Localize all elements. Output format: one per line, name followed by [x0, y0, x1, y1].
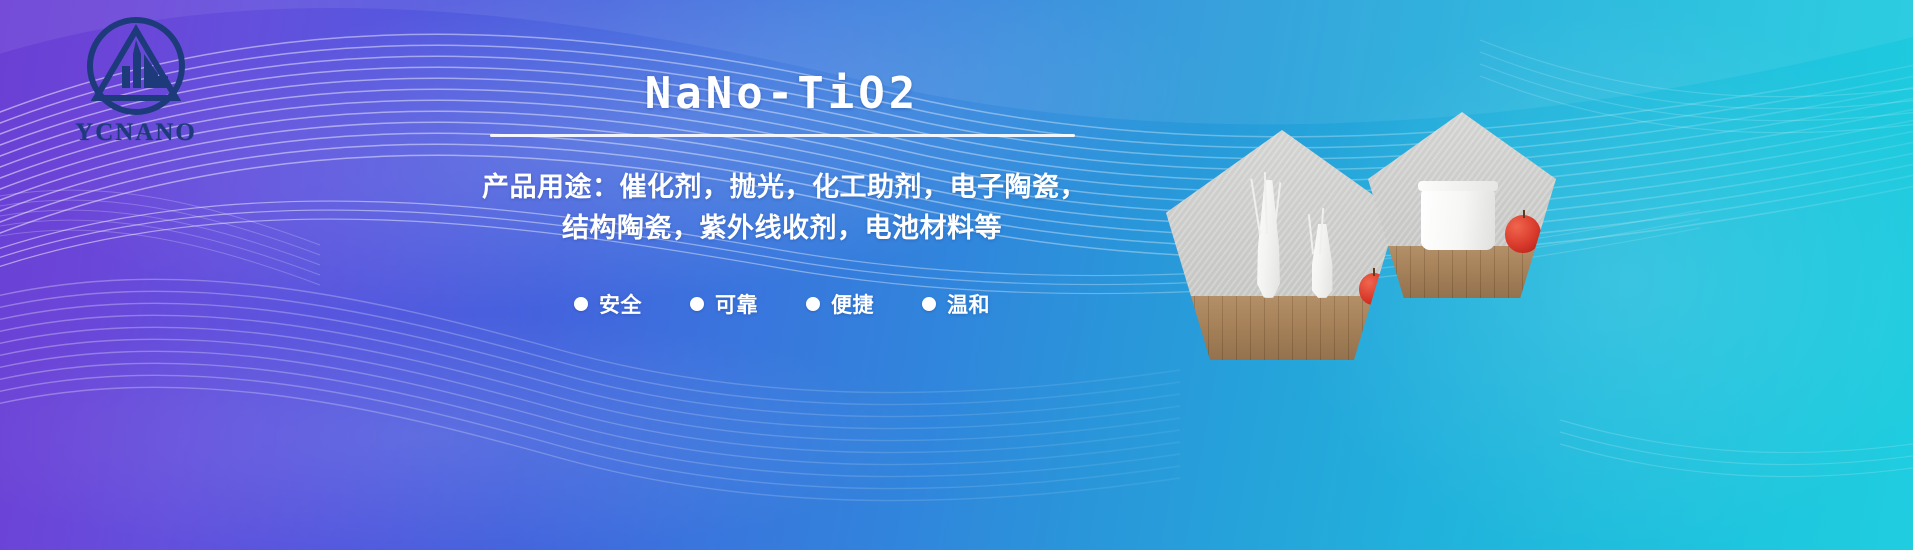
feature-item-convenient: 便捷	[806, 289, 874, 319]
description-line-1: 产品用途：催化剂，抛光，化工助剂，电子陶瓷，	[482, 167, 1082, 208]
feature-label: 安全	[599, 289, 642, 319]
bullet-dot-icon	[806, 297, 820, 311]
pentagon-photo-white-vases-icon	[1166, 130, 1398, 360]
brand-name: YCNANO	[75, 119, 197, 147]
product-photo-jar	[1368, 112, 1556, 298]
feature-label: 温和	[947, 289, 990, 319]
bullet-dot-icon	[922, 297, 936, 311]
description-line-2: 结构陶瓷，紫外线收剂，电池材料等	[482, 208, 1082, 249]
feature-item-safe: 安全	[574, 289, 642, 319]
title-divider	[490, 134, 1075, 137]
feature-label: 便捷	[831, 289, 874, 319]
product-banner: YCNANO NaNo-TiO2 产品用途：催化剂，抛光，化工助剂，电子陶瓷， …	[0, 0, 1913, 550]
bottom-glow	[0, 300, 1140, 550]
product-description: 产品用途：催化剂，抛光，化工助剂，电子陶瓷， 结构陶瓷，紫外线收剂，电池材料等	[482, 167, 1082, 249]
brand-logo[interactable]: YCNANO	[48, 14, 224, 154]
feature-list: 安全 可靠 便捷 温和	[482, 289, 1082, 319]
pentagon-photo-white-jar-apple-icon	[1368, 112, 1556, 298]
bullet-dot-icon	[690, 297, 704, 311]
feature-label: 可靠	[715, 289, 758, 319]
bullet-dot-icon	[574, 297, 588, 311]
ycnano-triangle-emblem-icon	[84, 14, 188, 118]
feature-item-mild: 温和	[922, 289, 990, 319]
product-photo-vases	[1166, 130, 1398, 360]
feature-item-reliable: 可靠	[690, 289, 758, 319]
page-title: NaNo-TiO2	[482, 70, 1082, 118]
hero-content: NaNo-TiO2 产品用途：催化剂，抛光，化工助剂，电子陶瓷， 结构陶瓷，紫外…	[482, 70, 1082, 319]
